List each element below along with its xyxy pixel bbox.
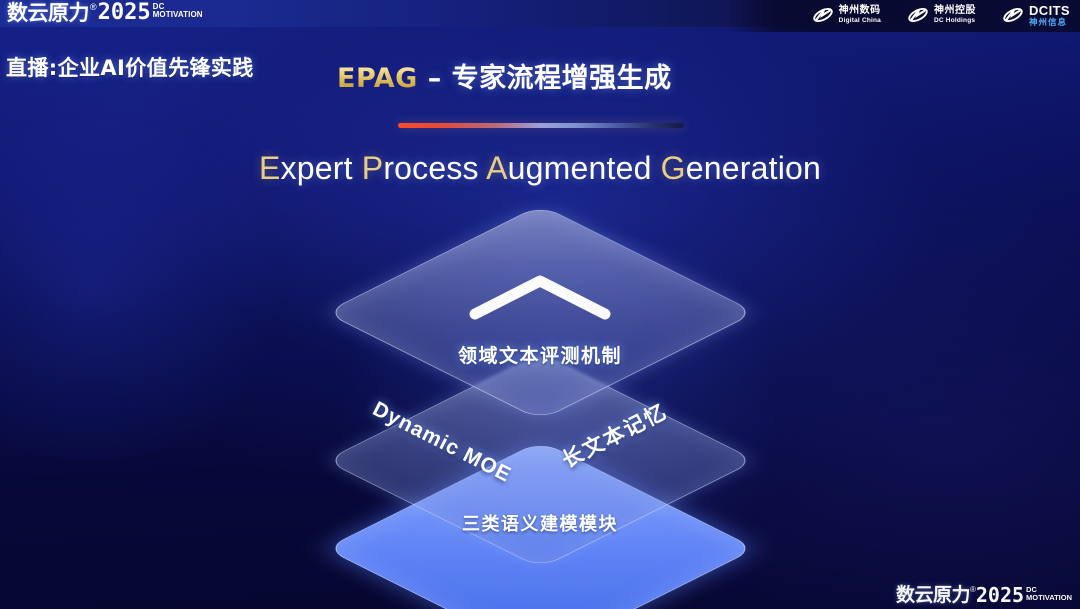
swoosh-icon bbox=[1002, 4, 1024, 26]
layered-architecture-diagram: 领域文本评测机制 Dynamic MOE 长文本记忆 三类语义建模模块 bbox=[0, 210, 1080, 580]
subtitle-expansion: Expert Process Augmented Generation bbox=[0, 150, 1080, 187]
title-acronym: EPAG bbox=[337, 63, 418, 94]
partner-name-en: Digital China bbox=[839, 18, 881, 25]
brand-logo: 数云原力 ® 2025 DC MOTIVATION bbox=[7, 2, 203, 24]
watermark-year: 2025 bbox=[976, 585, 1024, 605]
live-stream-title: 直播:企业AI价值先锋实践 bbox=[6, 52, 254, 82]
subtitle-rest-augmented: ugmented bbox=[508, 150, 652, 186]
watermark-dc-motivation: DC MOTIVATION bbox=[1026, 586, 1072, 601]
brand-motivation-text: MOTIVATION bbox=[153, 11, 203, 19]
layer-label-bottom: 三类语义建模模块 bbox=[462, 510, 618, 536]
brand-year: 2025 bbox=[98, 2, 151, 24]
swoosh-icon bbox=[812, 4, 834, 26]
brand-name-cn: 数云原力 bbox=[7, 2, 89, 24]
brand-dc-motivation: DC MOTIVATION bbox=[153, 3, 203, 19]
subtitle-cap-p: P bbox=[362, 150, 384, 186]
brand-registered-mark: ® bbox=[90, 2, 97, 13]
watermark-motivation-text: MOTIVATION bbox=[1026, 594, 1072, 602]
swoosh-icon bbox=[907, 4, 929, 26]
partner-dcits: DCITS 神州信息 bbox=[1002, 4, 1070, 27]
partner-name-cn: 神州控股 bbox=[934, 6, 976, 16]
subtitle-cap-g: G bbox=[661, 150, 686, 186]
subtitle-rest-expert: xpert bbox=[281, 150, 353, 186]
partner-label: 神州数码 Digital China bbox=[839, 6, 881, 25]
partner-name-en: DCITS bbox=[1029, 4, 1070, 17]
subtitle-rest-generation: eneration bbox=[686, 150, 821, 186]
subtitle-space-1 bbox=[353, 150, 362, 186]
partner-name-cn: 神州数码 bbox=[839, 6, 881, 16]
partner-label: DCITS 神州信息 bbox=[1029, 4, 1070, 27]
layer-label-top: 领域文本评测机制 bbox=[458, 341, 622, 368]
chevron-up-icon bbox=[465, 270, 615, 327]
slide-canvas: 数云原力 ® 2025 DC MOTIVATION 直播:企业AI价值先锋实践 … bbox=[0, 0, 1080, 609]
title-chinese: 专家流程增强生成 bbox=[452, 63, 672, 94]
subtitle-cap-e: E bbox=[259, 150, 281, 186]
partner-dc-holdings: 神州控股 DC Holdings bbox=[907, 4, 976, 26]
partner-label: 神州控股 DC Holdings bbox=[934, 6, 976, 25]
footer-watermark-logo: 数云原力 ® 2025 DC MOTIVATION bbox=[896, 585, 1072, 605]
watermark-name-cn: 数云原力 bbox=[896, 585, 970, 605]
subtitle-space-3 bbox=[652, 150, 661, 186]
subtitle-space-2 bbox=[479, 150, 486, 186]
subtitle-cap-a: A bbox=[486, 150, 508, 186]
partner-logo-row: 神州数码 Digital China 神州控股 DC Holdings bbox=[812, 4, 1070, 27]
page-title: EPAG – 专家流程增强生成 bbox=[337, 56, 672, 95]
gradient-divider bbox=[398, 123, 684, 128]
subtitle-rest-process: rocess bbox=[383, 150, 478, 186]
partner-name-cn: 神州信息 bbox=[1029, 18, 1070, 27]
partner-digital-china: 神州数码 Digital China bbox=[812, 4, 881, 26]
partner-name-en: DC Holdings bbox=[934, 18, 976, 25]
title-separator: – bbox=[418, 63, 452, 94]
